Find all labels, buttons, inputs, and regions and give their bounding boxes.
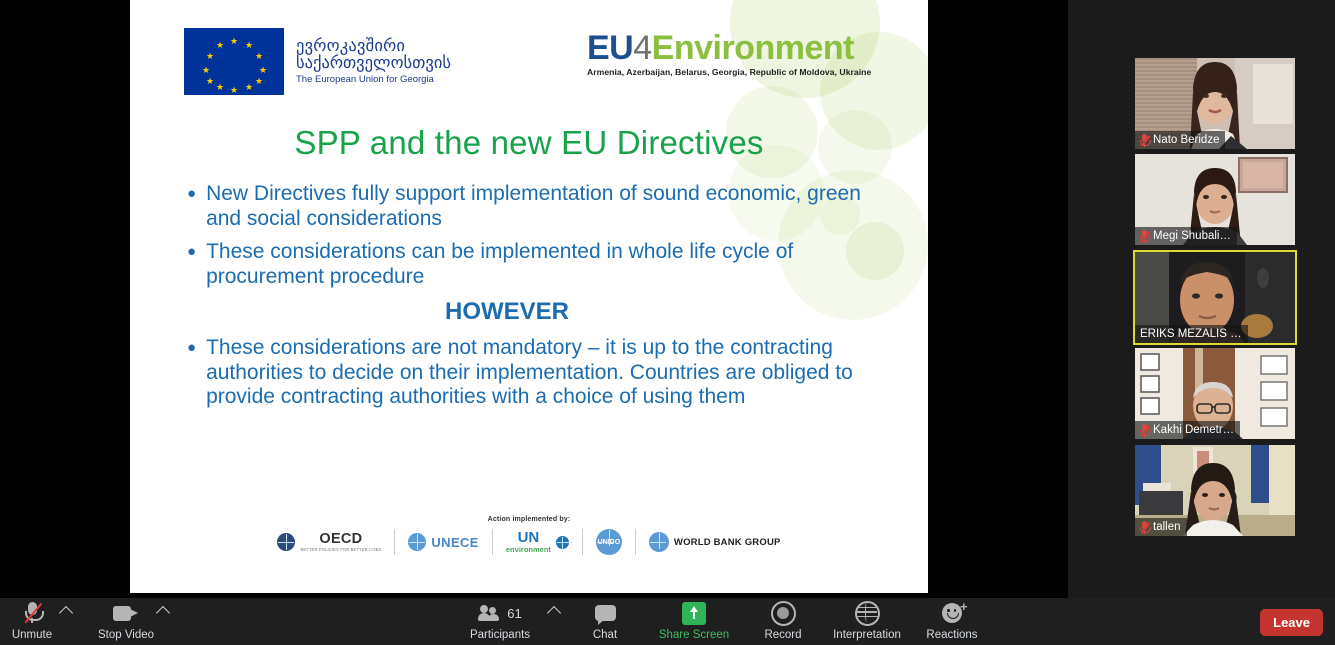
record-icon xyxy=(771,601,796,625)
unido-logo: UNIDO xyxy=(583,529,635,555)
presentation-slide: ★ ★ ★ ★ ★ ★ ★ ★ ★ ★ ★ ★ ევროკავშირ xyxy=(130,0,928,593)
participant-name: tallen xyxy=(1153,521,1181,533)
reactions-button[interactable]: + Reactions xyxy=(906,601,998,641)
share-screen-icon xyxy=(682,601,706,625)
un-environment-logo: UN environment xyxy=(493,531,582,554)
world-bank-name: WORLD BANK GROUP xyxy=(674,537,781,548)
participant-name-bar: Kakhi Demetr… xyxy=(1135,421,1240,439)
video-tile-1[interactable]: Megi Shubali… xyxy=(1135,154,1295,245)
eu4env-eu-text: EU xyxy=(587,29,633,67)
footer-label: Action implemented by: xyxy=(130,516,928,523)
participant-name: Kakhi Demetr… xyxy=(1153,424,1234,436)
slide-title: SPP and the new EU Directives xyxy=(130,124,928,162)
record-button[interactable]: Record xyxy=(737,601,829,641)
bullet-dot-icon: ● xyxy=(187,240,196,289)
reactions-label: Reactions xyxy=(926,629,977,641)
record-label: Record xyxy=(764,629,801,641)
microphone-muted-icon xyxy=(1140,521,1149,534)
microphone-muted-icon xyxy=(1140,134,1149,147)
world-bank-globe-icon xyxy=(649,532,669,552)
eu-logo-english: The European Union for Georgia xyxy=(296,75,451,85)
eu4env-subtitle: Armenia, Azerbaijan, Belarus, Georgia, R… xyxy=(587,67,871,77)
unece-logo: UNECE xyxy=(395,533,492,551)
bullet-dot-icon: ● xyxy=(187,336,196,410)
participant-name-bar: Nato Beridze xyxy=(1135,131,1225,149)
un-tagline: environment xyxy=(506,545,551,554)
unido-name: UNIDO xyxy=(598,539,621,546)
un-name: UN xyxy=(506,531,551,545)
bullet-item: ● New Directives fully support implement… xyxy=(187,182,887,231)
microphone-muted-icon xyxy=(1140,424,1149,437)
slide-body: ● New Directives fully support implement… xyxy=(187,182,887,419)
participant-name-bar: Megi Shubali… xyxy=(1135,227,1237,245)
world-bank-logo: WORLD BANK GROUP xyxy=(636,532,794,552)
oecd-logo: OECD BETTER POLICIES FOR BETTER LIVES xyxy=(264,532,394,552)
participant-name-bar: ERIKS MEZALIS … xyxy=(1135,325,1248,343)
video-tile-2[interactable]: ERIKS MEZALIS … xyxy=(1135,252,1295,343)
chat-button[interactable]: Chat xyxy=(559,601,651,641)
eu4environment-logo: EU4Environment Armenia, Azerbaijan, Bela… xyxy=(587,30,871,77)
people-icon: 61 xyxy=(478,601,521,625)
interpretation-button[interactable]: Interpretation xyxy=(821,601,913,641)
unece-name: UNECE xyxy=(431,535,479,550)
bullet-item: ● These considerations are not mandatory… xyxy=(187,336,887,410)
eu-flag-icon: ★ ★ ★ ★ ★ ★ ★ ★ ★ ★ ★ ★ xyxy=(184,28,284,95)
eu-georgia-logo: ★ ★ ★ ★ ★ ★ ★ ★ ★ ★ ★ ★ ევროკავშირ xyxy=(184,28,451,95)
share-screen-button[interactable]: Share Screen xyxy=(648,601,740,641)
leave-button[interactable]: Leave xyxy=(1260,609,1323,636)
globe-icon xyxy=(855,601,880,625)
slide-footer: Action implemented by: OECD BETTER POLIC… xyxy=(130,516,928,555)
microphone-muted-icon xyxy=(24,601,41,625)
participants-label: Participants xyxy=(470,629,530,641)
zoom-meeting-window: ★ ★ ★ ★ ★ ★ ★ ★ ★ ★ ★ ★ ევროკავშირ xyxy=(0,0,1335,645)
chat-label: Chat xyxy=(593,629,617,641)
chat-bubble-icon xyxy=(595,601,616,625)
eu4env-4-text: 4 xyxy=(633,29,651,67)
stop-video-button[interactable]: Stop Video xyxy=(80,601,172,641)
oecd-tagline: BETTER POLICIES FOR BETTER LIVES xyxy=(300,547,381,552)
participant-name: Nato Beridze xyxy=(1153,134,1219,146)
bullet-dot-icon: ● xyxy=(187,182,196,231)
slide-logo-row: ★ ★ ★ ★ ★ ★ ★ ★ ★ ★ ★ ★ ევროკავშირ xyxy=(130,18,928,100)
eu-logo-georgian-line1: ევროკავშირი xyxy=(296,38,451,55)
unmute-label: Unmute xyxy=(12,629,52,641)
meeting-toolbar: Unmute Stop Video 61 Participants Chat xyxy=(0,598,1335,645)
eu4env-environment-text: Environment xyxy=(652,29,854,67)
share-screen-label: Share Screen xyxy=(659,629,729,641)
stop-video-label: Stop Video xyxy=(98,629,154,641)
microphone-muted-icon xyxy=(1140,230,1149,243)
bullet-text: New Directives fully support implementat… xyxy=(206,182,887,231)
video-tile-0[interactable]: Nato Beridze xyxy=(1135,58,1295,149)
participant-name: ERIKS MEZALIS … xyxy=(1140,328,1242,340)
participant-name-bar: tallen xyxy=(1135,518,1187,536)
oecd-globe-icon xyxy=(277,533,295,551)
shared-screen-area[interactable]: ★ ★ ★ ★ ★ ★ ★ ★ ★ ★ ★ ★ ევროკავშირ xyxy=(0,0,1068,598)
bullet-text: These considerations can be implemented … xyxy=(206,240,887,289)
video-thumbnail-strip: Nato Beridze Megi Shubali… xyxy=(1068,0,1335,598)
participants-count: 61 xyxy=(507,606,521,621)
video-tile-3[interactable]: Kakhi Demetr… xyxy=(1135,348,1295,439)
unece-globe-icon xyxy=(408,533,426,551)
interpretation-label: Interpretation xyxy=(833,629,901,641)
however-heading: HOWEVER xyxy=(187,298,887,326)
smiley-plus-icon: + xyxy=(942,601,962,625)
bullet-text: These considerations are not mandatory –… xyxy=(206,336,887,410)
participant-name: Megi Shubali… xyxy=(1153,230,1231,242)
oecd-name: OECD xyxy=(300,532,381,546)
un-globe-icon xyxy=(556,536,569,549)
bullet-item: ● These considerations can be implemente… xyxy=(187,240,887,289)
camera-icon xyxy=(113,601,139,625)
eu-logo-georgian-line2: საქართველოსთვის xyxy=(296,55,451,72)
video-tile-4[interactable]: tallen xyxy=(1135,445,1295,536)
participants-button[interactable]: 61 Participants xyxy=(454,601,546,641)
